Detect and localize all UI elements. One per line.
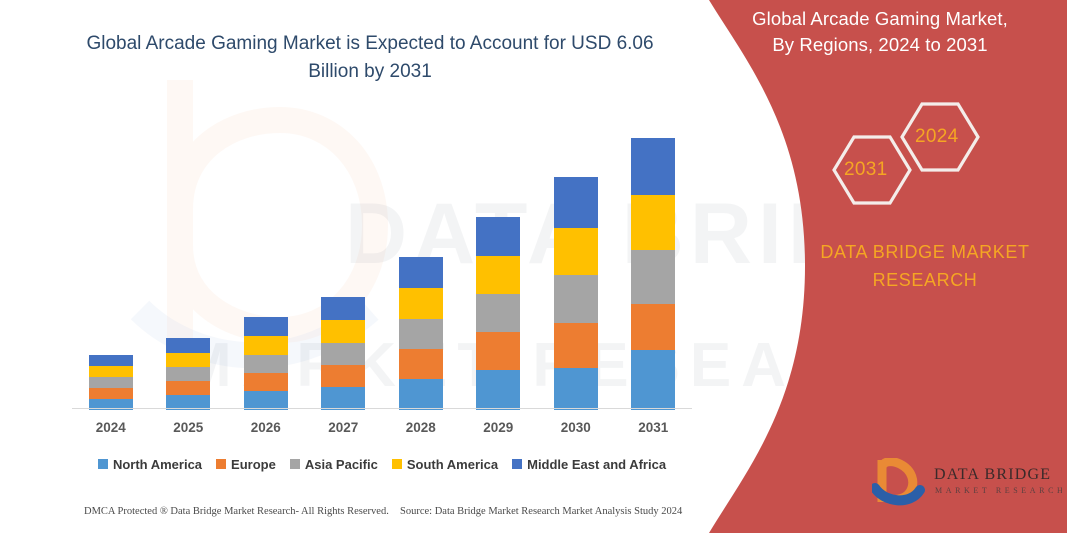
bar-segment — [399, 257, 443, 288]
hexagon-badges: 2024 2031 — [810, 100, 1010, 215]
legend-item[interactable]: Middle East and Africa — [512, 457, 666, 472]
bar-segment — [321, 387, 365, 410]
x-axis-labels: 20242025202620272028202920302031 — [72, 414, 692, 440]
legend-swatch-icon — [98, 459, 108, 469]
x-axis-label-2028: 2028 — [386, 420, 456, 435]
hexagon-label-end: 2031 — [844, 159, 887, 181]
x-axis-line — [72, 408, 692, 409]
x-axis-label-2027: 2027 — [308, 420, 378, 435]
bar-segment — [476, 294, 520, 332]
bar-segment — [399, 349, 443, 379]
bar-2028 — [399, 257, 443, 410]
bar-2026 — [244, 317, 288, 410]
bar-2031 — [631, 138, 675, 410]
bar-segment — [476, 370, 520, 410]
footer: DMCA Protected ® Data Bridge Market Rese… — [0, 506, 712, 528]
legend-item[interactable]: North America — [98, 457, 202, 472]
bar-segment — [476, 332, 520, 370]
brand-name: DATA BRIDGE MARKET RESEARCH — [790, 238, 1060, 294]
bar-2029 — [476, 217, 520, 410]
footer-copyright: DMCA Protected ® Data Bridge Market Rese… — [84, 506, 389, 517]
legend-label: Europe — [231, 457, 276, 472]
bar-2027 — [321, 297, 365, 410]
bar-segment — [399, 288, 443, 319]
legend-label: Asia Pacific — [305, 457, 378, 472]
bar-segment — [89, 355, 133, 366]
bar-segment — [89, 388, 133, 399]
x-axis-label-2030: 2030 — [541, 420, 611, 435]
legend-label: Middle East and Africa — [527, 457, 666, 472]
legend-swatch-icon — [512, 459, 522, 469]
x-axis-label-2024: 2024 — [76, 420, 146, 435]
panel-title-line1: Global Arcade Gaming Market, — [700, 6, 1060, 32]
legend-item[interactable]: Asia Pacific — [290, 457, 378, 472]
legend-label: South America — [407, 457, 498, 472]
bar-segment — [631, 304, 675, 350]
panel-title-line2: By Regions, 2024 to 2031 — [700, 32, 1060, 58]
brand-name-line2: RESEARCH — [790, 266, 1060, 294]
x-axis-label-2029: 2029 — [463, 420, 533, 435]
x-axis-label-2031: 2031 — [618, 420, 688, 435]
bar-segment — [166, 338, 210, 353]
bar-segment — [89, 366, 133, 377]
legend-swatch-icon — [290, 459, 300, 469]
bar-segment — [321, 365, 365, 387]
bar-segment — [631, 250, 675, 304]
legend-label: North America — [113, 457, 202, 472]
bar-segment — [554, 368, 598, 410]
chart-title: Global Arcade Gaming Market is Expected … — [60, 30, 680, 86]
chart-legend: North AmericaEuropeAsia PacificSouth Ame… — [72, 452, 692, 476]
bar-segment — [321, 343, 365, 365]
hexagon-outline-icon — [810, 100, 1010, 215]
panel-title: Global Arcade Gaming Market, By Regions,… — [700, 6, 1060, 58]
footer-source: Source: Data Bridge Market Research Mark… — [400, 506, 682, 517]
bar-2025 — [166, 338, 210, 410]
stacked-bar-chart — [72, 110, 692, 410]
bar-segment — [89, 377, 133, 388]
bar-segment — [399, 319, 443, 349]
legend-item[interactable]: South America — [392, 457, 498, 472]
x-axis-label-2026: 2026 — [231, 420, 301, 435]
bar-segment — [166, 367, 210, 381]
bar-segment — [321, 297, 365, 320]
data-bridge-logo-icon: DATA BRIDGE MARKET RESEARCH — [872, 458, 1062, 506]
logo-secondary-text: MARKET RESEARCH — [935, 486, 1062, 495]
bar-segment — [244, 317, 288, 336]
bar-2030 — [554, 177, 598, 410]
bar-segment — [631, 350, 675, 410]
bar-segment — [476, 256, 520, 294]
bar-segment — [321, 320, 365, 343]
legend-swatch-icon — [216, 459, 226, 469]
bar-segment — [554, 323, 598, 368]
bar-segment — [554, 228, 598, 275]
data-bridge-logo[interactable]: DATA BRIDGE MARKET RESEARCH — [872, 458, 1062, 506]
bar-segment — [244, 355, 288, 373]
bar-2024 — [89, 355, 133, 410]
bar-segment — [631, 195, 675, 250]
legend-item[interactable]: Europe — [216, 457, 276, 472]
bar-segment — [554, 177, 598, 228]
bar-segment — [631, 138, 675, 195]
bar-segment — [166, 353, 210, 367]
bar-segment — [244, 336, 288, 355]
infographic-canvas: DATA BRIDGE MARKET RESEARCH Global Arcad… — [0, 0, 1067, 533]
hexagon-label-start: 2024 — [915, 126, 958, 148]
brand-name-line1: DATA BRIDGE MARKET — [790, 238, 1060, 266]
legend-swatch-icon — [392, 459, 402, 469]
bar-segment — [399, 379, 443, 410]
bar-segment — [166, 381, 210, 395]
bar-segment — [554, 275, 598, 323]
logo-primary-text: DATA BRIDGE — [934, 466, 1051, 483]
x-axis-label-2025: 2025 — [153, 420, 223, 435]
bar-segment — [244, 373, 288, 391]
bar-segment — [476, 217, 520, 256]
